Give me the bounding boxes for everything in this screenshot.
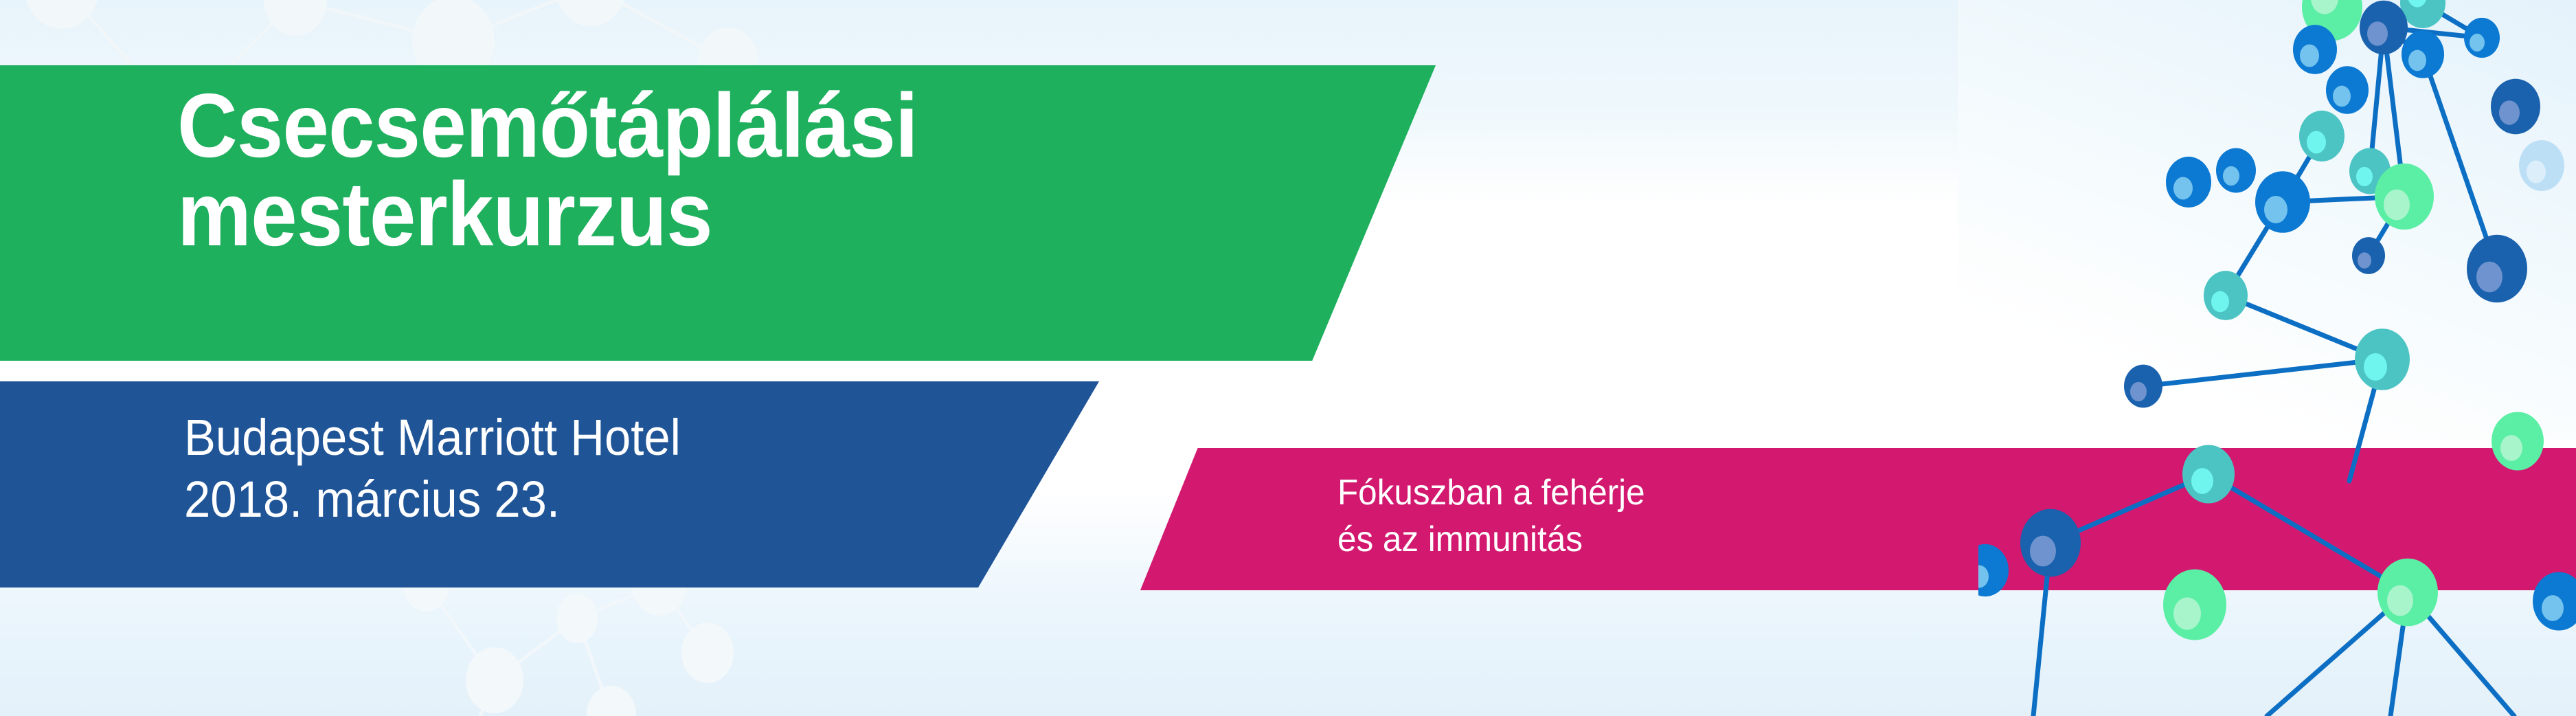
network-node — [2352, 237, 2385, 274]
network-node — [2492, 412, 2544, 470]
network-node — [2491, 79, 2540, 135]
network-node — [2402, 30, 2444, 78]
network-node — [2467, 235, 2527, 303]
network-node — [2375, 164, 2434, 230]
network-node — [2519, 140, 2564, 191]
network-node — [2020, 509, 2081, 577]
network-node — [1978, 544, 2009, 596]
network-node — [2533, 572, 2576, 630]
focus-line-2: és az immunitás — [1337, 517, 1645, 563]
watermark-molecule-bottom-left — [385, 577, 866, 716]
venue-location: Budapest Marriott Hotel — [184, 407, 681, 469]
network-link — [2143, 359, 2382, 386]
network-node-inner — [2211, 291, 2229, 313]
network-node — [2166, 157, 2211, 208]
network-node — [2182, 445, 2235, 503]
network-node — [2255, 171, 2310, 233]
network-link — [2423, 54, 2497, 269]
network-node — [2204, 271, 2248, 320]
network-link — [2208, 474, 2408, 592]
network-node-inner — [2470, 34, 2485, 52]
venue-date: 2018. március 23. — [184, 469, 681, 530]
venue-info: Budapest Marriott Hotel 2018. március 23… — [184, 407, 718, 531]
network-node — [2124, 365, 2162, 408]
network-node-inner — [2364, 353, 2387, 381]
network-node — [2360, 1, 2408, 54]
network-node-inner — [2499, 100, 2520, 124]
network-node-inner — [2307, 131, 2326, 153]
title-line-2: mesterkurzus — [177, 170, 1252, 258]
network-node-inner — [2223, 166, 2239, 186]
event-banner: Csecsemőtáplálási mesterkurzus Budapest … — [0, 0, 2576, 716]
network-node-inner — [2264, 196, 2287, 223]
network-node-inner — [2173, 597, 2201, 629]
network-node — [2464, 18, 2500, 58]
title-line-1: Csecsemőtáplálási — [177, 81, 1252, 170]
network-node-inner — [2408, 50, 2426, 71]
network-node-inner — [2300, 44, 2319, 67]
network-node — [2216, 148, 2256, 193]
network-node — [2377, 559, 2438, 627]
network-node-inner — [2030, 536, 2056, 567]
page-title: Csecsemőtáplálási mesterkurzus — [177, 81, 1345, 259]
network-node-inner — [2173, 177, 2193, 199]
network-node-inner — [2130, 382, 2147, 401]
network-node-inner — [2191, 468, 2213, 494]
focus-line-1: Fókuszban a fehérje — [1337, 470, 1645, 517]
molecular-network-graphic — [1978, 0, 2576, 716]
network-node — [2355, 328, 2410, 390]
network-node — [2326, 66, 2369, 113]
network-node — [2163, 569, 2226, 640]
network-node-inner — [2358, 252, 2371, 269]
network-node-inner — [2356, 167, 2373, 186]
network-node-inner — [2384, 190, 2410, 221]
network-node-inner — [2527, 160, 2546, 183]
network-node-inner — [2476, 262, 2502, 293]
network-node — [2299, 111, 2345, 161]
network-node — [2293, 25, 2337, 74]
network-node-inner — [2387, 585, 2413, 616]
focus-topic: Fókuszban a fehérje és az immunitás — [1337, 470, 1661, 563]
network-node-inner — [2500, 435, 2522, 461]
network-node-inner — [2333, 86, 2351, 107]
network-node-inner — [2542, 595, 2564, 621]
network-node-inner — [2367, 21, 2388, 45]
